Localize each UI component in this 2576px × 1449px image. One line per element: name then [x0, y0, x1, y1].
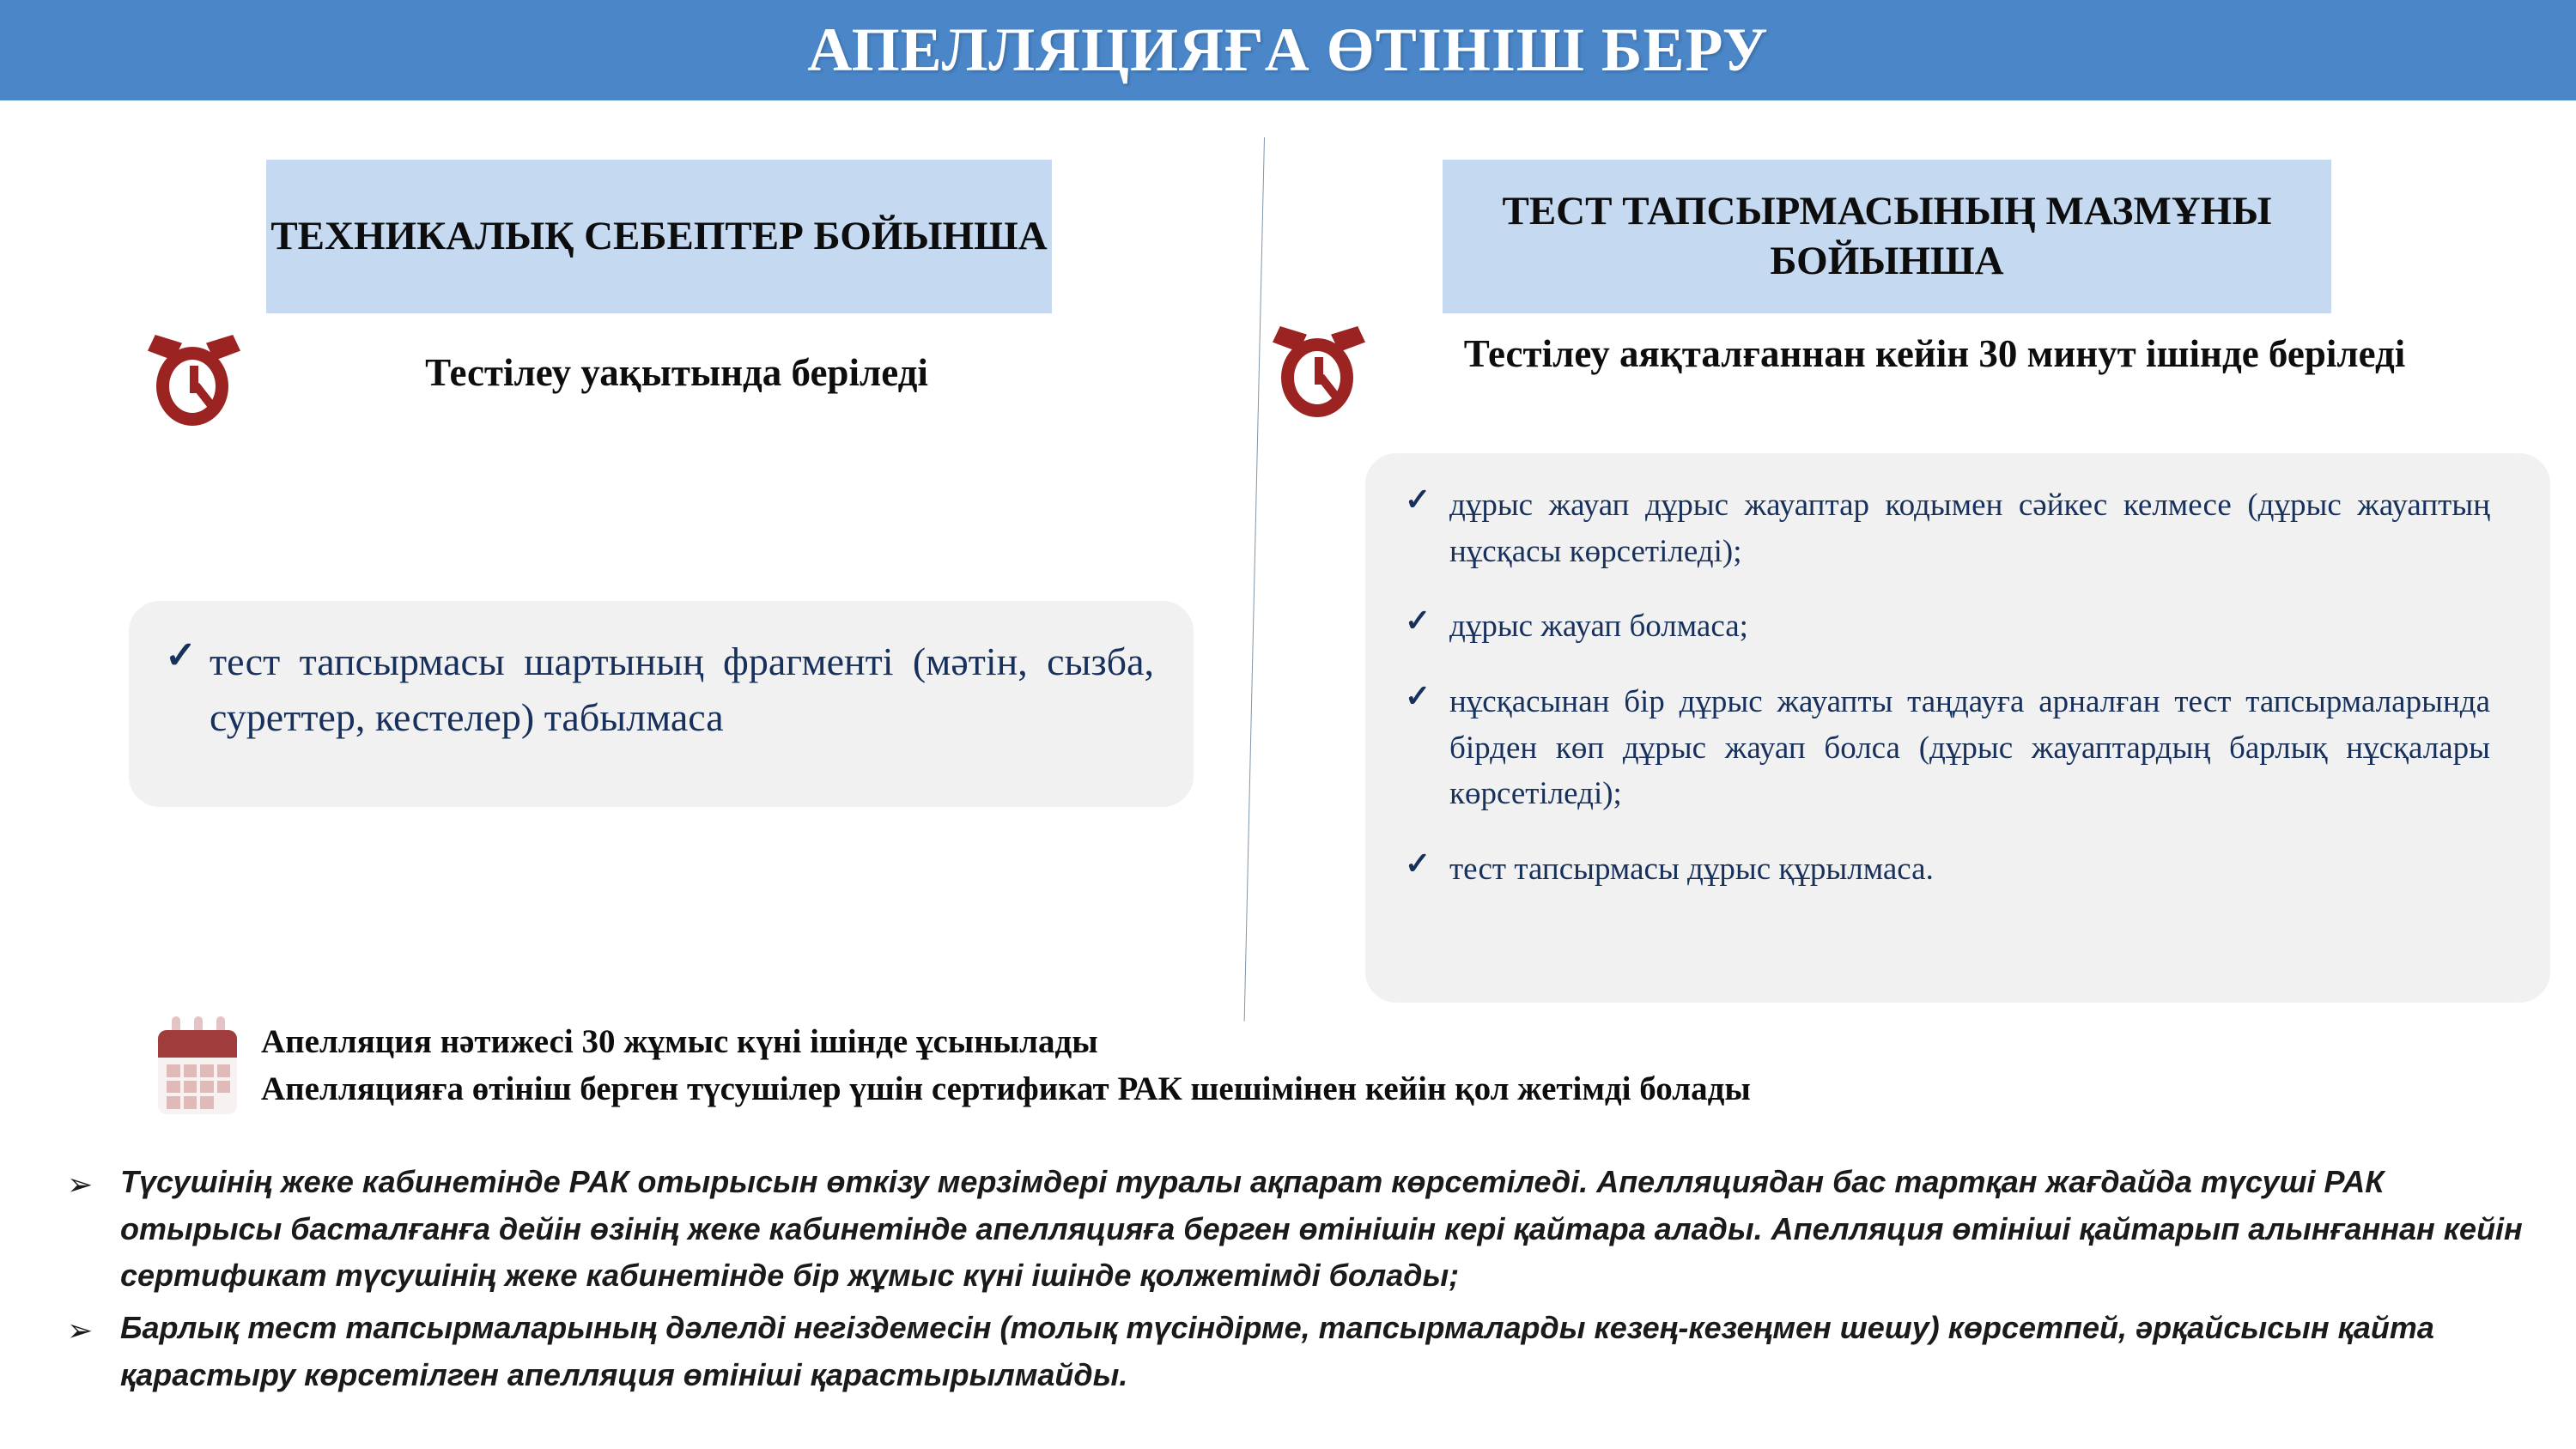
calendar-note-line-1: Апелляция нәтижесі 30 жұмыс күні ішінде … [261, 1018, 2523, 1065]
title-bar: АПЕЛЛЯЦИЯҒА ӨТІНІШ БЕРУ [0, 0, 2576, 100]
check-icon: ✓ [1405, 679, 1449, 712]
left-timing-row: Тестілеу уақытында беріледі [144, 328, 1106, 434]
list-item-label: тест тапсырмасы шартының фрагменті (мәті… [210, 634, 1154, 746]
list-item: ✓ дұрыс жауап дұрыс жауаптар кодымен сәй… [1405, 482, 2490, 574]
check-icon: ✓ [1405, 846, 1449, 879]
list-item: ➢ Түсушінің жеке кабинетінде РАК отырысы… [67, 1159, 2531, 1300]
arrow-right-icon: ➢ [67, 1305, 120, 1353]
right-reasons-card: ✓ дұрыс жауап дұрыс жауаптар кодымен сәй… [1365, 453, 2550, 1003]
column-divider [1244, 137, 1265, 1022]
check-icon: ✓ [165, 634, 210, 675]
arrow-right-icon: ➢ [67, 1159, 120, 1207]
list-item: ✓ тест тапсырмасы шартының фрагменті (мә… [129, 601, 1194, 746]
list-item-label: тест тапсырмасы дұрыс құрылмаса. [1449, 846, 2490, 893]
footnote-list: ➢ Түсушінің жеке кабинетінде РАК отырысы… [67, 1159, 2531, 1404]
page-title: АПЕЛЛЯЦИЯҒА ӨТІНІШ БЕРУ [0, 0, 2576, 100]
right-timing-text: Тестілеу аяқталғаннан кейін 30 минут іші… [1372, 319, 2497, 378]
list-item-label: дұрыс жауап дұрыс жауаптар кодымен сәйке… [1449, 482, 2490, 574]
list-item: ✓ тест тапсырмасы дұрыс құрылмаса. [1405, 846, 2490, 893]
calendar-icon [153, 1015, 242, 1114]
right-timing-row: Тестілеу аяқталғаннан кейін 30 минут іші… [1269, 319, 2497, 426]
list-item: ➢ Барлық тест тапсырмаларының дәлелді не… [67, 1305, 2531, 1398]
list-item-label: Түсушінің жеке кабинетінде РАК отырысын … [120, 1159, 2531, 1300]
left-timing-text: Тестілеу уақытында беріледі [247, 328, 1106, 397]
list-item-label: Барлық тест тапсырмаларының дәлелді негі… [120, 1305, 2531, 1398]
check-icon: ✓ [1405, 603, 1449, 636]
alarm-clock-icon [144, 328, 247, 434]
calendar-note-line-2: Апелляцияға өтініш берген түсушілер үшін… [261, 1065, 2523, 1113]
list-item: ✓ нұсқасынан бір дұрыс жауапты таңдауға … [1405, 679, 2490, 817]
alarm-clock-icon [1269, 319, 1372, 426]
list-item: ✓ дұрыс жауап болмаса; [1405, 603, 2490, 650]
left-reasons-card: ✓ тест тапсырмасы шартының фрагменті (мә… [129, 601, 1194, 807]
list-item-label: нұсқасынан бір дұрыс жауапты таңдауға ар… [1449, 679, 2490, 817]
left-column-heading: ТЕХНИКАЛЫҚ СЕБЕПТЕР БОЙЫНША [266, 160, 1052, 313]
calendar-note: Апелляция нәтижесі 30 жұмыс күні ішінде … [153, 1015, 2523, 1114]
list-item-label: дұрыс жауап болмаса; [1449, 603, 2490, 650]
check-icon: ✓ [1405, 482, 1449, 515]
right-column-heading: ТЕСТ ТАПСЫРМАСЫНЫҢ МАЗМҰНЫ БОЙЫНША [1443, 160, 2331, 313]
